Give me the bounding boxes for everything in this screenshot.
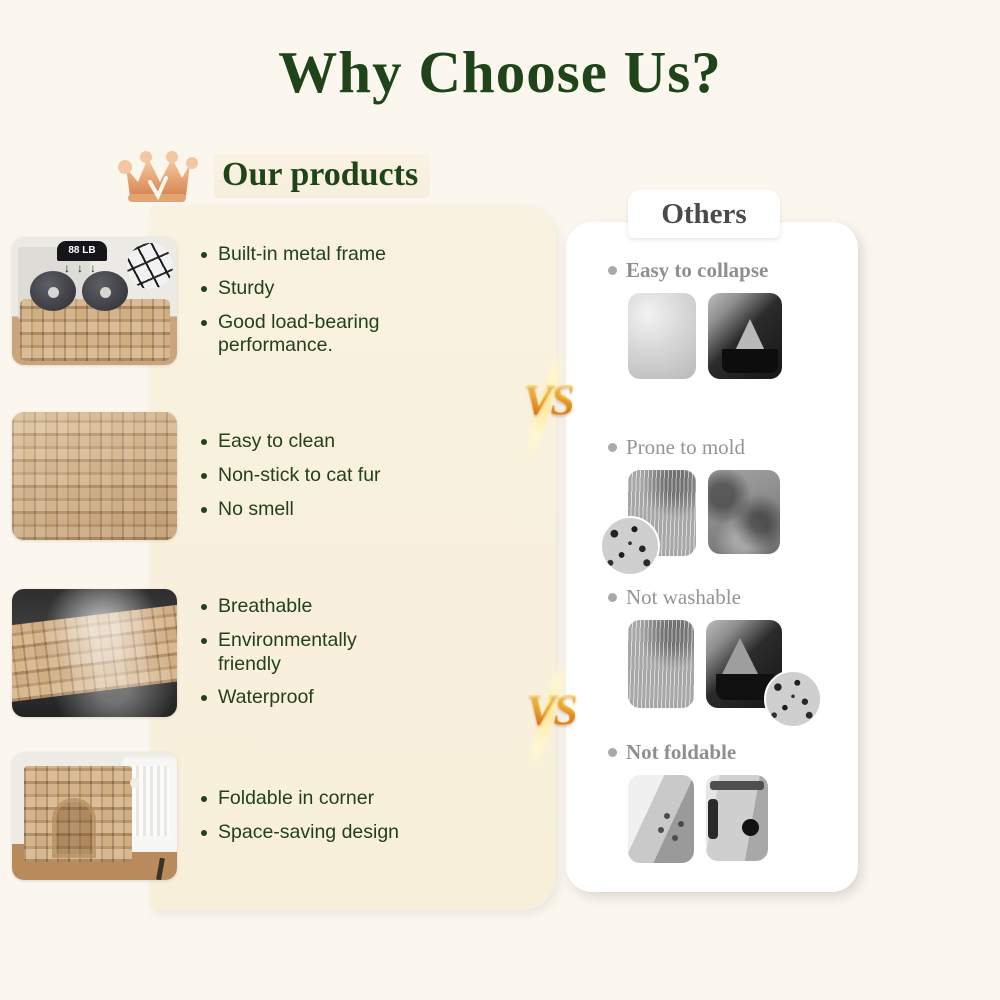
others-row: Easy to collapse [566,258,858,379]
others-image-rigid-bin [706,775,768,861]
product-row: Foldable in corner Space-saving design [0,752,406,880]
vs-label: VS [505,374,591,425]
bullet-item: Space-saving design [201,821,406,845]
vs-badge: VS [508,660,594,770]
product-row: Breathable Environmentally friendly Wate… [0,585,406,720]
bullet-item: Foldable in corner [201,787,406,811]
our-products-header: Our products [214,154,430,198]
others-images [566,470,858,556]
product-row: Easy to clean Non-stick to cat fur No sm… [0,412,406,540]
others-label: Not foldable [566,740,858,765]
others-images [566,620,858,708]
product-bullets: Breathable Environmentally friendly Wate… [177,585,406,720]
others-label: Not washable [566,585,858,610]
others-header-label: Others [661,198,746,231]
others-inset-mold-spots [764,670,822,728]
bullet-item: Easy to clean [201,430,406,454]
others-image-collapsed-dark [708,293,782,379]
others-row: Not washable [566,585,858,708]
product-row: 88 LB ↓↓↓ Built-in metal frame Sturdy Go… [0,233,406,368]
weight-badge: 88 LB [57,242,107,260]
others-row: Not foldable [566,740,858,863]
others-label: Prone to mold [566,435,858,460]
bullet-item: Built-in metal frame [201,243,406,267]
others-image-collapsed-light [628,293,696,379]
bullet-item: Environmentally friendly [201,629,406,677]
product-bullets: Easy to clean Non-stick to cat fur No sm… [177,420,406,531]
others-label: Easy to collapse [566,258,858,283]
bullet-item: Non-stick to cat fur [201,464,406,488]
crown-icon [112,138,208,210]
others-inset-mold-spots [600,516,660,576]
page-title: Why Choose Us? [0,38,1000,107]
others-image-mold-surface [708,470,780,554]
bullet-item: Breathable [201,595,406,619]
product-bullets: Foldable in corner Space-saving design [177,777,406,855]
product-image-dumbbells: 88 LB ↓↓↓ [12,237,177,365]
others-images [566,293,858,379]
vs-badge: VS [505,350,591,460]
bullet-item: Good load-bearing performance. [201,311,406,359]
product-image-foldable-corner [12,752,177,880]
others-images [566,775,858,863]
product-bullets: Built-in metal frame Sturdy Good load-be… [177,233,406,368]
bullet-item: Waterproof [201,686,406,710]
others-header-tab: Others [628,190,780,238]
others-image-rigid-box [628,775,694,863]
bullet-item: No smell [201,498,406,522]
others-row: Prone to mold [566,435,858,556]
product-image-rattan-weave [12,412,177,540]
product-image-breathable-steam [12,589,177,717]
bullet-item: Sturdy [201,277,406,301]
others-image-stained-fabric [628,620,694,708]
vs-label: VS [508,684,594,735]
